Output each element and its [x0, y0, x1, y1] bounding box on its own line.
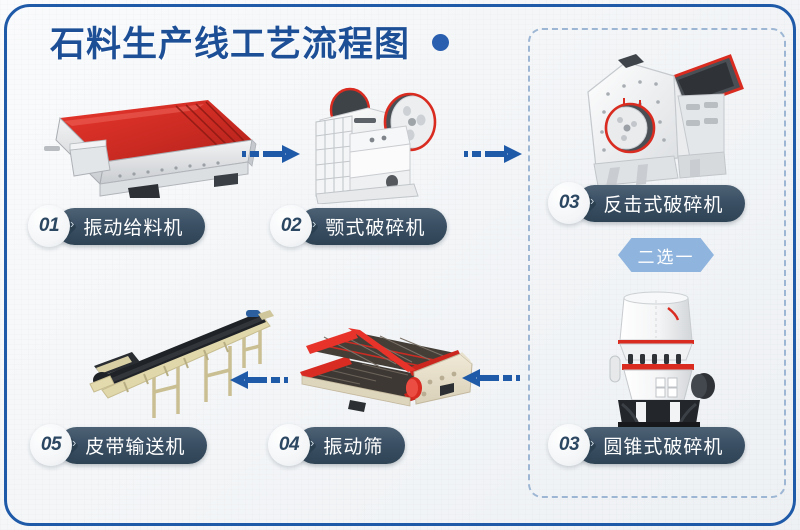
step-number-01: 01 [28, 205, 70, 247]
machine-vibrating-screen [290, 310, 480, 414]
step-pill-02[interactable]: › 颚式破碎机 [298, 208, 447, 245]
arrow-cone-to-screen [462, 366, 520, 390]
step-number-03-impact: 03 [548, 182, 590, 224]
step-pill-05[interactable]: › 皮带输送机 [58, 427, 207, 464]
page-title: 石料生产线工艺流程图 [50, 16, 410, 67]
chevron-right-icon: › [310, 435, 314, 450]
step-pill-01[interactable]: › 振动给料机 [56, 208, 205, 245]
choose-one-badge: 二选一 [618, 238, 714, 272]
machine-belt-conveyor [88, 306, 278, 424]
step-title-01: 振动给料机 [83, 213, 183, 240]
step-number-03-cone: 03 [548, 424, 590, 466]
step-title-02: 颚式破碎机 [325, 213, 425, 240]
step-number-04: 04 [268, 424, 310, 466]
chevron-right-icon: › [590, 193, 594, 208]
chevron-right-icon: › [312, 216, 316, 231]
step-title-04: 振动筛 [323, 432, 383, 459]
chevron-right-icon: › [70, 216, 74, 231]
step-number-02: 02 [270, 205, 312, 247]
step-title-03-cone: 圆锥式破碎机 [603, 432, 723, 459]
arrow-screen-to-conveyor [230, 368, 288, 392]
step-number-05: 05 [30, 424, 72, 466]
flowchart-canvas: 二选一 石料生产线工艺流程图 01 › 振动给料机 02 › 颚式破碎机 03 … [0, 0, 800, 530]
step-pill-03-cone[interactable]: › 圆锥式破碎机 [576, 427, 745, 464]
chevron-right-icon: › [72, 435, 76, 450]
machine-vibrating-feeder [24, 88, 260, 198]
machine-jaw-crusher [306, 78, 456, 204]
step-pill-03-impact[interactable]: › 反击式破碎机 [576, 185, 745, 222]
title-accent-dot [432, 34, 449, 51]
step-title-03-impact: 反击式破碎机 [603, 190, 723, 217]
arrow-jaw-to-impact [464, 142, 522, 166]
step-pill-04[interactable]: › 振动筛 [296, 427, 405, 464]
step-title-05: 皮带输送机 [85, 432, 185, 459]
arrow-feeder-to-jaw [242, 142, 300, 166]
chevron-right-icon: › [590, 435, 594, 450]
